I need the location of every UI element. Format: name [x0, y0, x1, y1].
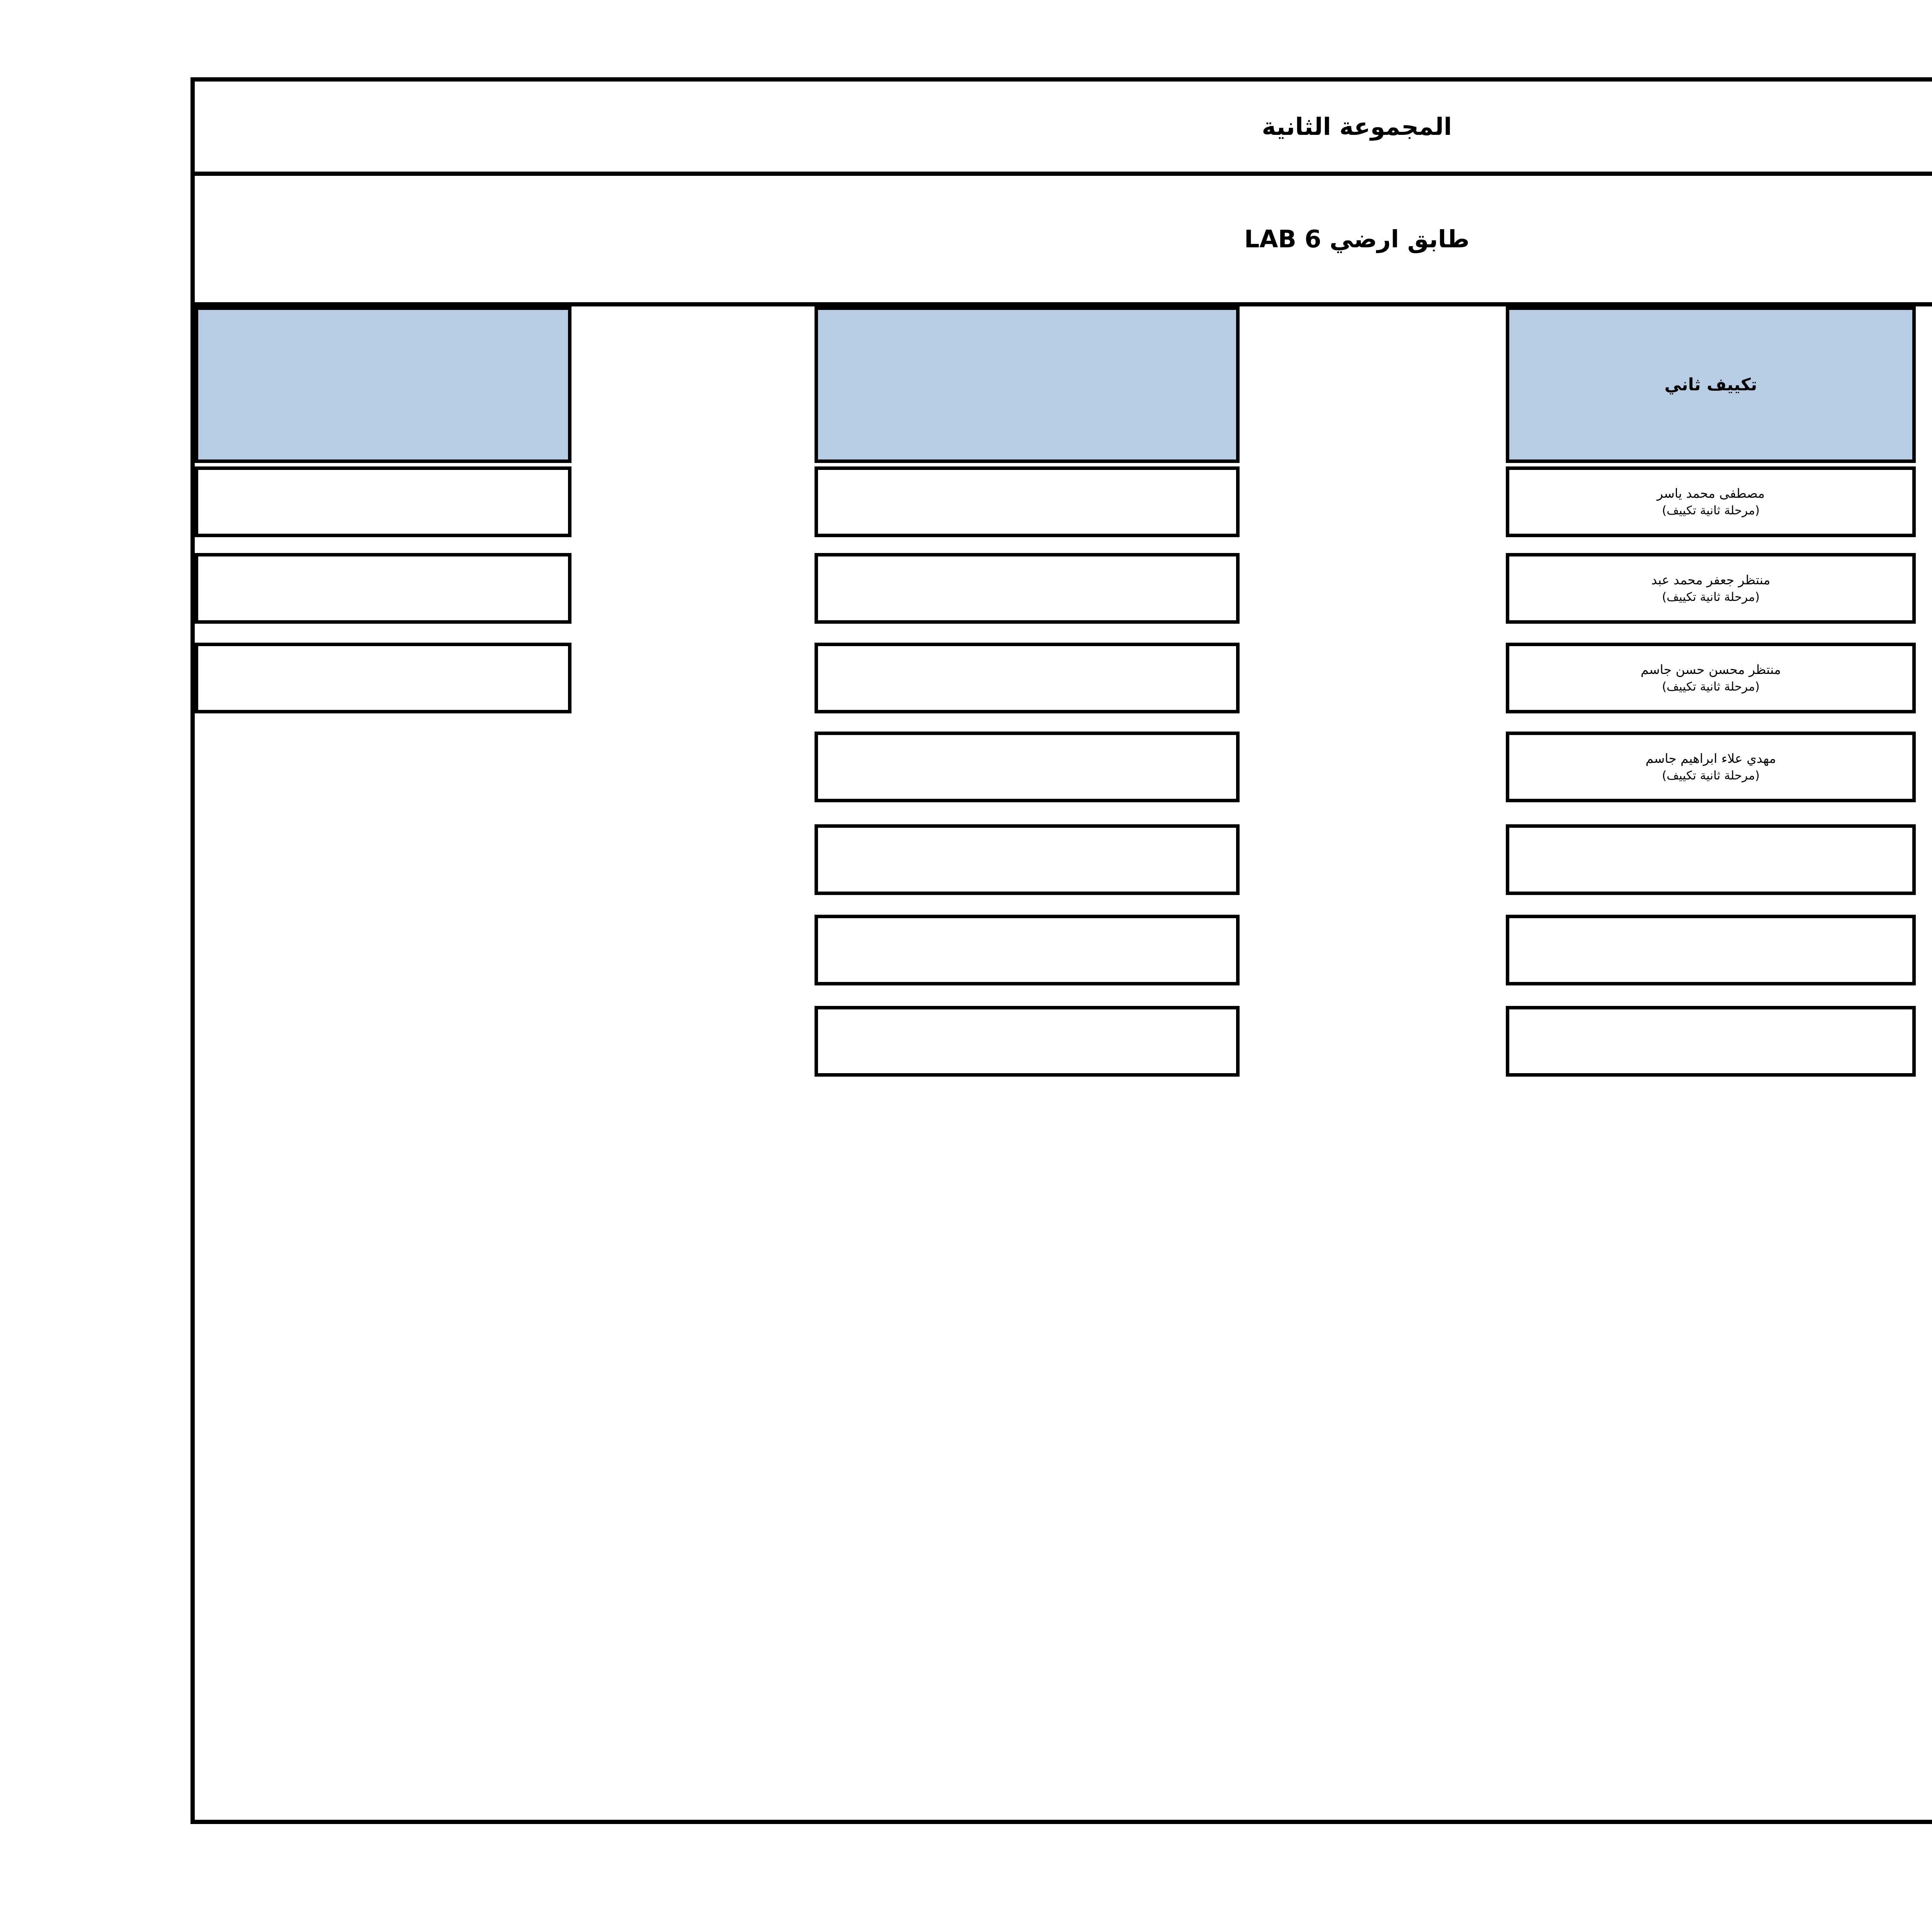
student-cell[interactable]: منتظر جعفر محمد عبد(مرحلة ثانية تكييف)	[1506, 553, 1916, 624]
student-stage: (مرحلة ثانية تكييف)	[1662, 502, 1760, 519]
table-frame: المجموعة الثانية طابق ارضي LAB 6 تكييف ث…	[190, 77, 1932, 1824]
empty-cell[interactable]	[195, 553, 571, 624]
column-header-1	[195, 306, 571, 463]
page-title: المجموعة الثانية	[195, 82, 1932, 176]
empty-cell[interactable]	[1506, 1006, 1916, 1077]
student-cell[interactable]: مصطفى محمد ياسر(مرحلة ثانية تكييف)	[1506, 466, 1916, 537]
empty-cell[interactable]	[195, 466, 571, 537]
empty-cell[interactable]	[815, 1006, 1240, 1077]
column-header-3: تكييف ثاني	[1506, 306, 1916, 463]
student-cell[interactable]: منتظر محسن حسن جاسم(مرحلة ثانية تكييف)	[1506, 643, 1916, 713]
empty-cell[interactable]	[815, 466, 1240, 537]
column-header-label: تكييف ثاني	[1665, 375, 1757, 395]
student-stage: (مرحلة ثانية تكييف)	[1662, 589, 1760, 606]
student-name: مصطفى محمد ياسر	[1657, 485, 1765, 502]
student-cell[interactable]: مهدي علاء ابراهيم جاسم(مرحلة ثانية تكييف…	[1506, 732, 1916, 802]
empty-cell[interactable]	[815, 553, 1240, 624]
column-header-2	[815, 306, 1240, 463]
student-stage: (مرحلة ثانية تكييف)	[1662, 679, 1760, 695]
student-name: منتظر محسن حسن جاسم	[1641, 661, 1781, 679]
empty-cell[interactable]	[815, 732, 1240, 802]
empty-cell[interactable]	[815, 824, 1240, 895]
student-name: منتظر جعفر محمد عبد	[1651, 571, 1770, 589]
worksheet-page: المجموعة الثانية طابق ارضي LAB 6 تكييف ث…	[0, 0, 1932, 1916]
empty-cell[interactable]	[1506, 824, 1916, 895]
empty-cell[interactable]	[815, 643, 1240, 713]
seating-grid: تكييف ثانيمصطفى محمد ياسر(مرحلة ثانية تك…	[195, 306, 1932, 1828]
empty-cell[interactable]	[1506, 915, 1916, 985]
subtitle-location: طابق ارضي LAB 6	[195, 176, 1932, 306]
student-name: مهدي علاء ابراهيم جاسم	[1646, 750, 1776, 767]
empty-cell[interactable]	[195, 643, 571, 713]
empty-cell[interactable]	[815, 915, 1240, 985]
student-stage: (مرحلة ثانية تكييف)	[1662, 767, 1760, 784]
